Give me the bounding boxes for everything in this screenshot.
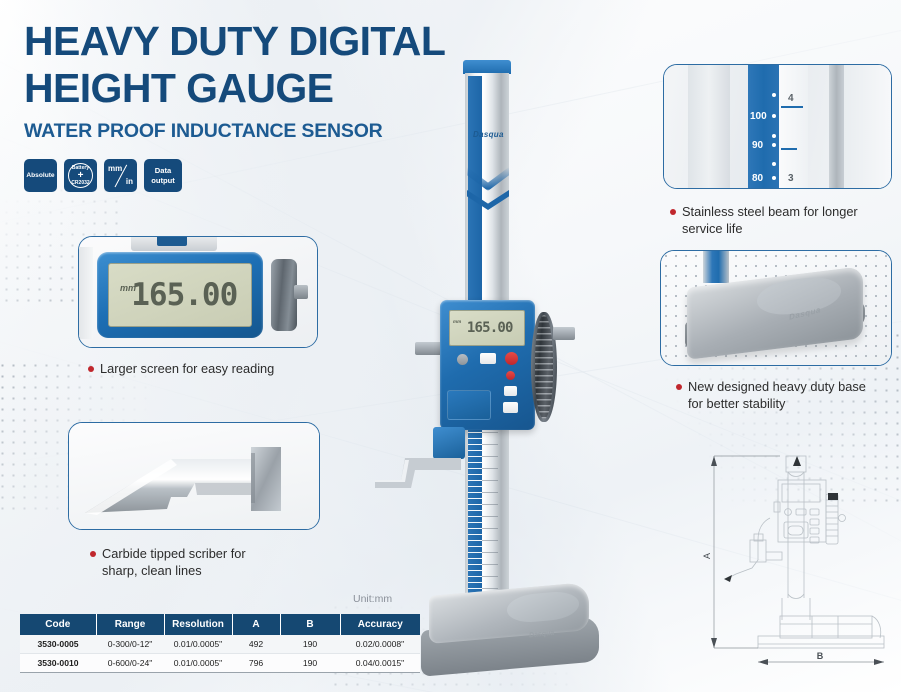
cell-accuracy: 0.04/0.0015" <box>340 654 420 673</box>
badge-absolute: Absolute <box>24 159 57 192</box>
feature-base-line2: for better stability <box>688 395 866 412</box>
scale-column-rail <box>829 65 844 188</box>
feature-text-carbide-scriber: Carbide tipped scriber for sharp, clean … <box>90 545 246 579</box>
table-header-accuracy: Accuracy <box>340 614 420 635</box>
bullet-icon <box>676 384 682 390</box>
scale-column-blue <box>748 65 779 188</box>
table-header-code: Code <box>20 614 96 635</box>
cell-resolution: 0.01/0.0005" <box>164 635 232 654</box>
cell-range: 0-600/0-24" <box>96 654 164 673</box>
gauge-lcd-reading: 165.00 <box>467 320 513 336</box>
badge-battery-plus: + <box>78 171 84 180</box>
feature-beam-line1: Stainless steel beam for longer <box>682 204 858 219</box>
beam-brand-logo: Dasqua <box>473 130 504 139</box>
badge-in-label: in <box>126 178 133 186</box>
cell-accuracy: 0.02/0.0008" <box>340 635 420 654</box>
bullet-icon <box>670 209 676 215</box>
scale-white-label-4: 4 <box>788 93 794 104</box>
lcd-screen: mm 165.00 <box>108 263 252 327</box>
scale-dot <box>772 93 776 97</box>
unit-note: Unit:mm <box>353 593 392 605</box>
table-header-range: Range <box>96 614 164 635</box>
cell-range: 0-300/0-12" <box>96 635 164 654</box>
page-subtitle: WATER PROOF INDUCTANCE SENSOR <box>24 120 445 143</box>
feature-badge-row: Absolute Battery + CR2032 mm in Data out… <box>24 159 182 192</box>
badge-absolute-label: Absolute <box>26 172 54 180</box>
dimension-label-a: A <box>702 553 712 559</box>
photo-card-scale-closeup: 4 100 90 80 3 <box>663 64 892 189</box>
left-locking-knob <box>415 342 443 355</box>
badge-mm-label: mm <box>108 165 122 173</box>
gauge-button-onoff[interactable] <box>505 352 518 365</box>
title-line-1: HEAVY DUTY DIGITAL <box>24 18 445 65</box>
badge-data-bottom: output <box>151 176 175 185</box>
gauge-button-mmin[interactable] <box>504 386 517 396</box>
feature-beam-line2: service life <box>682 220 858 237</box>
feature-base-line1: New designed heavy duty base <box>688 379 866 394</box>
dimension-label-b: B <box>817 651 824 661</box>
scale-white-label-3: 3 <box>788 173 794 184</box>
photo-card-lcd-closeup: mm 165.00 <box>78 236 318 348</box>
gauge-button-zero[interactable] <box>480 353 496 364</box>
lcd-rail <box>79 247 93 339</box>
scale-column-left <box>688 65 730 188</box>
feature-text-heavy-duty-base: New designed heavy duty base for better … <box>676 378 866 412</box>
feature-larger-screen-line1: Larger screen for easy reading <box>100 361 274 376</box>
table-header-b: B <box>280 614 340 635</box>
lcd-top-chip <box>157 237 187 246</box>
cell-resolution: 0.01/0.0005" <box>164 654 232 673</box>
base-beam-stub <box>703 250 729 283</box>
gauge-button-power[interactable] <box>457 354 468 365</box>
cell-code: 3530-0005 <box>20 635 96 654</box>
carbide-scriber-illustration <box>75 439 303 519</box>
bullet-icon <box>88 366 94 372</box>
battery-icon: Battery + CR2032 <box>68 163 93 188</box>
gauge-button-preset[interactable] <box>503 402 518 413</box>
table-header-resolution: Resolution <box>164 614 232 635</box>
scale-blue-label-80: 80 <box>752 173 763 184</box>
product-base: Dasqua <box>403 587 603 677</box>
gauge-lcd-unit: mm <box>453 319 461 324</box>
table-row: 3530-0005 0-300/0-12" 0.01/0.0005" 492 1… <box>20 635 420 654</box>
scale-tick-major <box>781 106 803 108</box>
scale-dot <box>772 162 776 166</box>
lcd-reading: 165.00 <box>131 277 237 313</box>
scale-dot <box>772 134 776 138</box>
scale-dot <box>772 176 776 180</box>
roller-ridges <box>535 315 553 419</box>
specification-table: Code Range Resolution A B Accuracy 3530-… <box>20 614 420 673</box>
badge-data-top: Data <box>155 166 171 175</box>
page-title: HEAVY DUTY DIGITAL HEIGHT GAUGE WATER PR… <box>24 18 445 143</box>
scriber-arm <box>375 450 463 488</box>
feature-text-stainless-beam: Stainless steel beam for longer service … <box>670 203 858 237</box>
gauge-lower-panel <box>447 390 491 420</box>
bullet-icon <box>90 551 96 557</box>
photo-card-base-closeup: Dasqua <box>660 250 892 366</box>
cell-b: 190 <box>280 654 340 673</box>
photo-card-scriber-closeup <box>68 422 320 530</box>
badge-battery: Battery + CR2032 <box>64 159 97 192</box>
cell-a: 492 <box>232 635 280 654</box>
title-line-2: HEIGHT GAUGE <box>24 65 445 112</box>
fine-adjust-knob <box>271 259 297 331</box>
scale-blue-label-90: 90 <box>752 140 763 151</box>
right-locking-knob <box>553 327 575 340</box>
feature-carbide-line1: Carbide tipped scriber for <box>102 546 246 561</box>
scale-dot <box>772 143 776 147</box>
scale-tick-major <box>781 148 797 150</box>
scale-column-white <box>779 65 808 188</box>
cell-code: 3530-0010 <box>20 654 96 673</box>
table-header-row: Code Range Resolution A B Accuracy <box>20 614 420 635</box>
table-header-a: A <box>232 614 280 635</box>
badge-mm-in: mm in <box>104 159 137 192</box>
scale-column-right <box>844 65 891 188</box>
feature-text-larger-screen: Larger screen for easy reading <box>88 360 274 377</box>
technical-dimension-drawing: A B <box>700 448 896 684</box>
gauge-button-hold[interactable] <box>506 371 515 380</box>
lcd-housing: mm 165.00 <box>97 252 263 338</box>
scale-blue-label-100: 100 <box>750 111 767 122</box>
beam-end-cap <box>463 60 511 74</box>
cell-a: 796 <box>232 654 280 673</box>
badge-data-output: Data output <box>144 159 182 192</box>
table-row: 3530-0010 0-600/0-24" 0.01/0.0005" 796 1… <box>20 654 420 673</box>
cell-b: 190 <box>280 635 340 654</box>
main-product-image: Dasqua mm 165.00 Dasqua <box>385 42 645 682</box>
scale-dot <box>772 114 776 118</box>
gauge-lcd-screen: mm 165.00 <box>449 310 525 346</box>
feature-carbide-line2: sharp, clean lines <box>102 562 246 579</box>
badge-battery-bottom: CR2032 <box>71 180 89 186</box>
